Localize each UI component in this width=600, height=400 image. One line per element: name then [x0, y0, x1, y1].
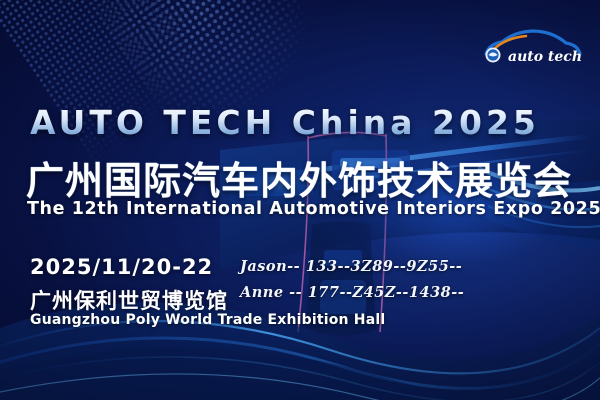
contact-line-anne: Anne -- 177--Z45Z--1438-- [240, 284, 464, 301]
contact-phone: 177--Z45Z--1438-- [308, 284, 465, 301]
poster: auto tech AUTO TECH China 2025 广州国际汽车内外饰… [0, 0, 600, 400]
contact-name: Anne -- [240, 284, 302, 301]
event-title-en: AUTO TECH China 2025 [30, 103, 540, 142]
contact-line-jason: Jason-- 133--3Z89--9Z55-- [240, 258, 462, 275]
contact-name: Jason-- [240, 258, 300, 275]
contact-phone: 133--3Z89--9Z55-- [306, 258, 463, 275]
venue-name-cn: 广州保利世贸博览馆 [30, 285, 228, 315]
event-title-cn: 广州国际汽车内外饰技术展览会 [26, 150, 572, 205]
poster-content: AUTO TECH China 2025 广州国际汽车内外饰技术展览会 The … [0, 0, 600, 400]
event-subtitle-en: The 12th International Automotive Interi… [27, 199, 600, 219]
event-date: 2025/11/20-22 [30, 255, 213, 279]
venue-name-en: Guangzhou Poly World Trade Exhibition Ha… [30, 312, 385, 328]
